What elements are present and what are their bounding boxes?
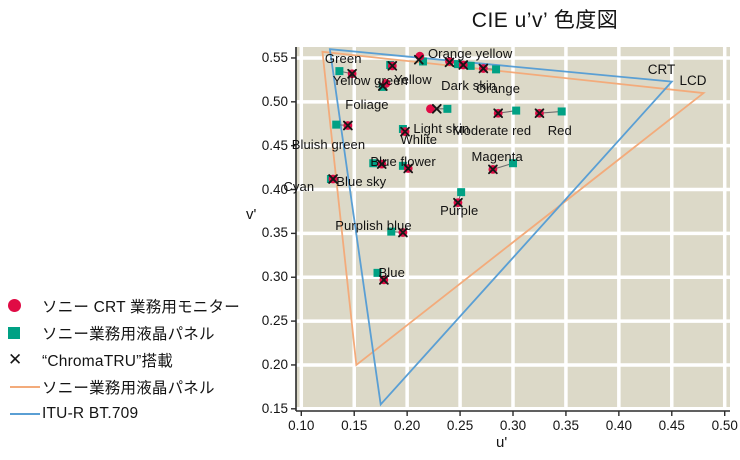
point-label: Magenta	[472, 149, 523, 164]
y-tick-label: 0.55	[248, 50, 288, 65]
y-tick-label: 0.35	[248, 225, 288, 240]
gamut-vertex-label-lcd: LCD	[680, 73, 707, 88]
point-label: Orange yellow	[428, 46, 512, 61]
point-label: Yellow	[394, 72, 432, 87]
y-tick-label: 0.50	[248, 94, 288, 109]
x-tick-label: 0.10	[281, 418, 321, 433]
x-tick-label: 0.50	[705, 418, 740, 433]
point-label: Whlite	[400, 132, 437, 147]
x-tick-label: 0.45	[652, 418, 692, 433]
x-tick-label: 0.30	[493, 418, 533, 433]
point-label: Blue	[379, 265, 405, 280]
point-label: Red	[548, 123, 572, 138]
x-tick-label: 0.35	[546, 418, 586, 433]
lcd-square-marker	[492, 65, 500, 73]
point-label: Foliage	[345, 97, 388, 112]
data-point-group	[426, 104, 451, 113]
y-tick-label: 0.40	[248, 182, 288, 197]
lcd-square-marker	[332, 121, 340, 129]
x-tick-label: 0.20	[387, 418, 427, 433]
point-label: Blue flower	[370, 154, 435, 169]
lcd-square-marker	[512, 107, 520, 115]
point-label: Purple	[440, 203, 478, 218]
point-label: Blue sky	[336, 174, 386, 189]
x-axis-label: u'	[496, 434, 507, 451]
lcd-square-marker	[558, 107, 566, 115]
x-tick-label: 0.15	[334, 418, 374, 433]
y-axis-label: v'	[246, 206, 256, 223]
y-tick-label: 0.25	[248, 313, 288, 328]
y-tick-label: 0.20	[248, 357, 288, 372]
y-tick-label: 0.30	[248, 269, 288, 284]
chart-page: CIE u’v’ 色度図 ソニー CRT 業務用モニター ソニー業務用液晶パネル…	[0, 0, 740, 460]
x-tick-label: 0.40	[599, 418, 639, 433]
point-label: Bluish green	[292, 137, 365, 152]
lcd-square-marker	[457, 188, 465, 196]
data-point-group	[386, 61, 397, 70]
point-label: Purplish blue	[335, 218, 411, 233]
point-label: Green	[325, 51, 362, 66]
y-tick-label: 0.45	[248, 138, 288, 153]
lcd-square-marker	[443, 105, 451, 113]
point-label: Moderate red	[453, 123, 532, 138]
data-point-group	[459, 61, 475, 70]
point-label: Cyan	[283, 179, 314, 194]
x-tick-label: 0.25	[440, 418, 480, 433]
point-label: Orange	[476, 81, 520, 96]
gamut-vertex-label-crt: CRT	[648, 62, 676, 77]
chromaticity-plot: 0.100.150.200.250.300.350.400.450.500.15…	[0, 0, 740, 460]
y-tick-label: 0.15	[248, 401, 288, 416]
